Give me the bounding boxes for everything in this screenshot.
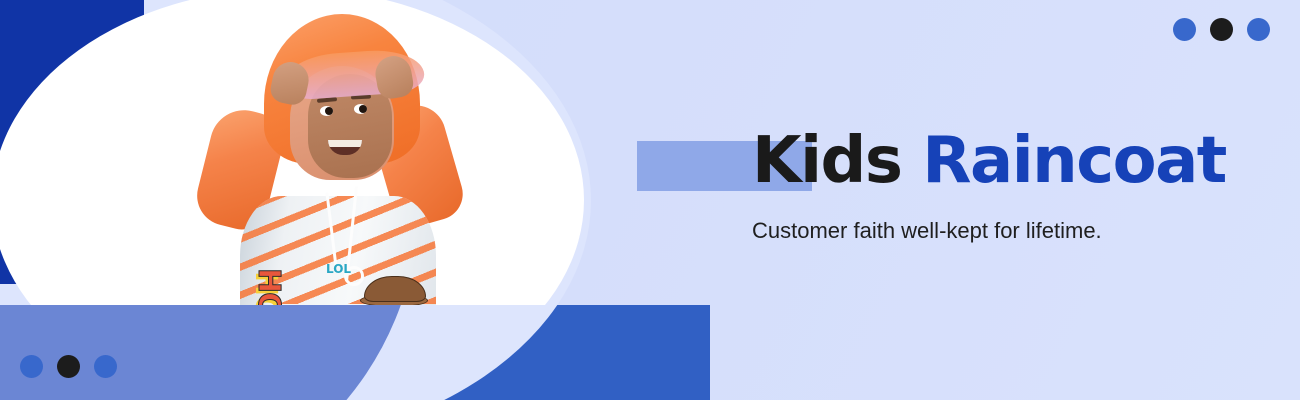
headline-part-raincoat: Raincoat bbox=[922, 124, 1226, 198]
banner-subtitle: Customer faith well-kept for lifetime. bbox=[637, 214, 1112, 248]
medium-arc-over-rect bbox=[0, 305, 419, 400]
page-title: Kids Raincoat bbox=[637, 120, 1277, 202]
dot-blue-2 bbox=[1247, 18, 1270, 41]
dot-black-2 bbox=[57, 355, 80, 378]
dot-black-1 bbox=[1210, 18, 1233, 41]
pupil-left bbox=[325, 107, 333, 115]
dot-blue-1 bbox=[1173, 18, 1196, 41]
dots-top-right bbox=[1173, 18, 1270, 41]
dot-blue-4 bbox=[94, 355, 117, 378]
bottom-arc-overlay bbox=[0, 305, 710, 400]
pupil-right bbox=[359, 105, 367, 113]
woody-hat bbox=[364, 276, 426, 302]
kids-raincoat-banner: HOWDY LOL NBD bbox=[0, 0, 1300, 400]
dot-blue-3 bbox=[20, 355, 43, 378]
dots-bottom-left bbox=[20, 355, 117, 378]
child-teeth bbox=[328, 140, 362, 147]
headline-space bbox=[901, 124, 922, 198]
banner-text-block: Kids Raincoat Customer faith well-kept f… bbox=[637, 120, 1277, 248]
headline-part-kids: Kids bbox=[752, 124, 901, 198]
headline-row: Kids Raincoat bbox=[637, 120, 1277, 202]
print-lol-text: LOL bbox=[326, 262, 351, 276]
